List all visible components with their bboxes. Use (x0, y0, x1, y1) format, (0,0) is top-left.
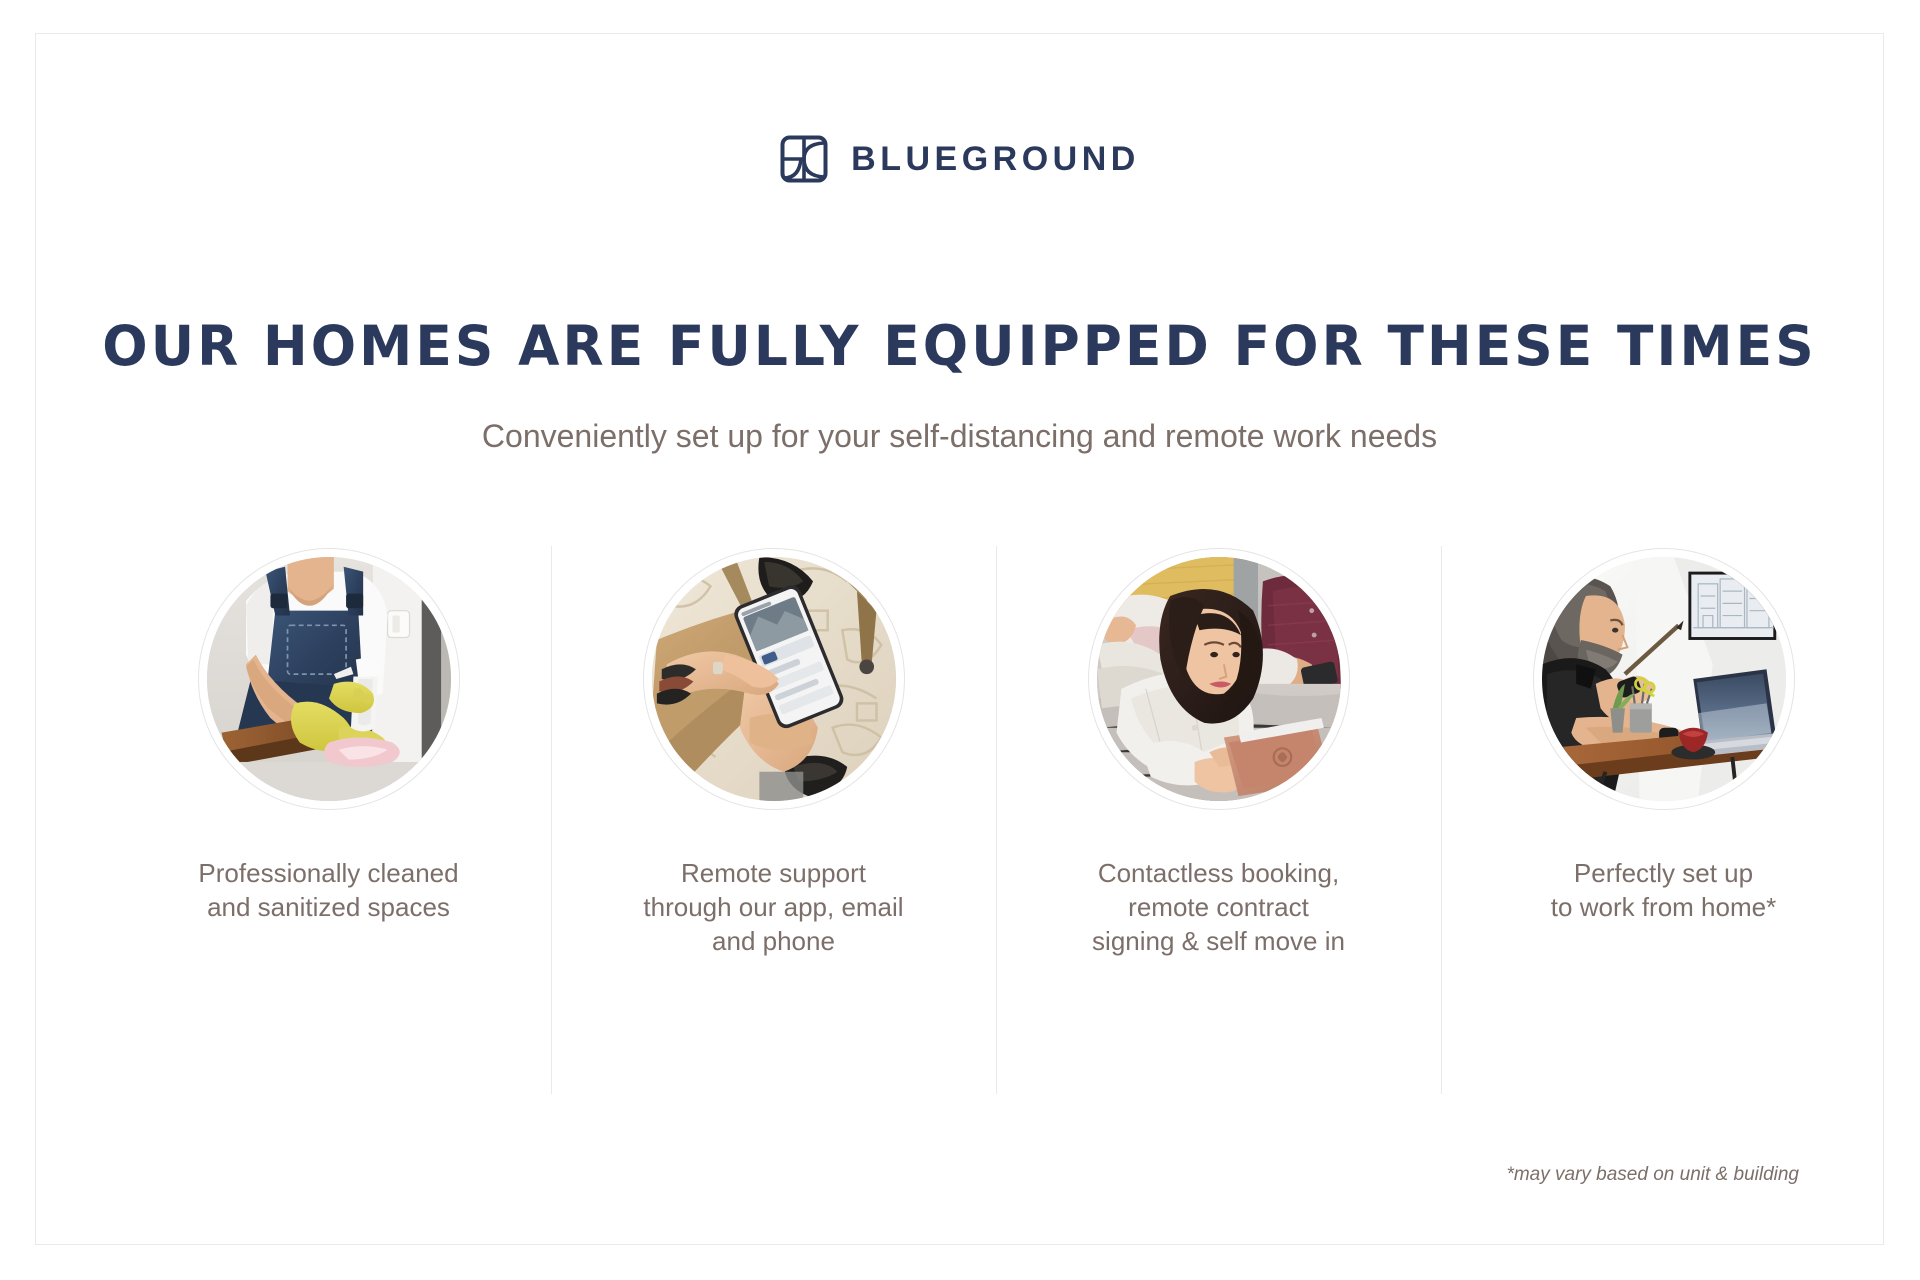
feature-item: Perfectly set up to work from home* (1441, 542, 1886, 1098)
feature-caption: Contactless booking, remote contract sig… (1092, 856, 1345, 958)
man-working-at-desk-photo (1542, 557, 1786, 801)
feature-caption: Professionally cleaned and sanitized spa… (198, 856, 458, 924)
feature-item: Remote support through our app, email an… (551, 542, 996, 1098)
photo-ring (1088, 548, 1350, 810)
brand-lockup: BLUEGROUND (36, 134, 1883, 184)
brand-wordmark: BLUEGROUND (851, 142, 1140, 176)
page-headline: OUR HOMES ARE FULLY EQUIPPED FOR THESE T… (64, 319, 1856, 374)
poster-frame: BLUEGROUND OUR HOMES ARE FULLY EQUIPPED … (35, 33, 1884, 1245)
photo-ring (643, 548, 905, 810)
feature-caption: Perfectly set up to work from home* (1551, 856, 1776, 924)
photo-ring (1533, 548, 1795, 810)
photo-ring (198, 548, 460, 810)
cleaner-wiping-counter-photo (207, 557, 451, 801)
feature-list: Professionally cleaned and sanitized spa… (106, 542, 1886, 1098)
blueground-logo-icon (779, 134, 829, 184)
footnote-text: *may vary based on unit & building (1506, 1164, 1799, 1186)
hands-using-phone-app-photo (652, 557, 896, 801)
woman-on-bed-with-tablet-photo (1097, 557, 1341, 801)
feature-item: Contactless booking, remote contract sig… (996, 542, 1441, 1098)
feature-item: Professionally cleaned and sanitized spa… (106, 542, 551, 1098)
page-subheadline: Conveniently set up for your self-distan… (36, 416, 1883, 456)
feature-caption: Remote support through our app, email an… (643, 856, 903, 958)
